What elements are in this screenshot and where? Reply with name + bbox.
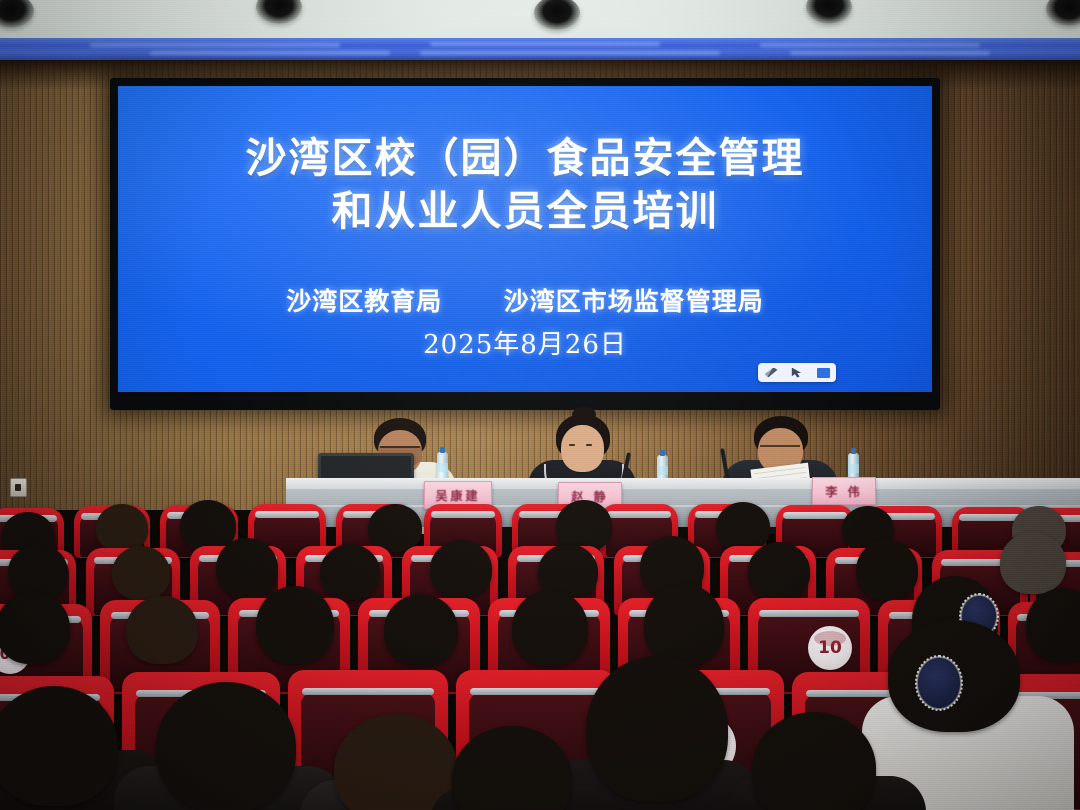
led-cove-light bbox=[0, 38, 1080, 62]
slide-date: 2025年8月26日 bbox=[118, 324, 932, 361]
pen-icon[interactable] bbox=[765, 368, 778, 378]
slide-org-left: 沙湾区教育局 bbox=[286, 287, 442, 316]
head bbox=[561, 425, 604, 472]
audience-head bbox=[716, 502, 770, 552]
audience-head-foreground bbox=[156, 682, 296, 810]
audience-head bbox=[512, 590, 588, 666]
audience-head-foreground bbox=[586, 656, 728, 802]
name-placard-right-text: 李 伟 bbox=[825, 483, 862, 500]
audience-head bbox=[112, 546, 170, 600]
audience-head bbox=[856, 540, 918, 600]
audience-head bbox=[216, 538, 278, 598]
audience-head bbox=[384, 594, 458, 666]
projection-screen-bezel: 沙湾区校（园）食品安全管理 和从业人员全员培训 沙湾区教育局 沙湾区市场监督管理… bbox=[110, 78, 940, 410]
audience-seating: 09 10 09 bbox=[0, 500, 1080, 810]
audience-head bbox=[430, 540, 492, 598]
slide-title: 沙湾区校（园）食品安全管理 和从业人员全员培训 bbox=[118, 132, 932, 238]
audience-head bbox=[1000, 532, 1066, 594]
slide-title-line2: 和从业人员全员培训 bbox=[118, 185, 932, 238]
audience-head bbox=[96, 504, 148, 552]
conference-photo: 沙湾区校（园）食品安全管理 和从业人员全员培训 沙湾区教育局 沙湾区市场监督管理… bbox=[0, 0, 1080, 810]
glasses-icon bbox=[760, 445, 800, 454]
audience-head bbox=[256, 586, 334, 664]
audience-head bbox=[644, 584, 724, 666]
eye bbox=[569, 444, 575, 446]
pearl-hair-clip bbox=[918, 658, 960, 708]
slide-organizations: 沙湾区教育局 沙湾区市场监督管理局 bbox=[118, 282, 932, 318]
seat-number-sticker: 10 bbox=[808, 626, 852, 670]
slide-title-line1: 沙湾区校（园）食品安全管理 bbox=[118, 132, 932, 185]
presentation-toolbar[interactable] bbox=[758, 363, 836, 382]
cursor-icon[interactable] bbox=[791, 368, 804, 378]
audience-head bbox=[320, 544, 380, 600]
audience-head-foreground bbox=[0, 686, 118, 806]
audience-head bbox=[368, 504, 422, 552]
projection-screen: 沙湾区校（园）食品安全管理 和从业人员全员培训 沙湾区教育局 沙湾区市场监督管理… bbox=[118, 86, 932, 392]
audience-head bbox=[0, 592, 70, 664]
audience-head bbox=[126, 596, 198, 664]
audience-head bbox=[748, 542, 810, 600]
eye bbox=[586, 444, 592, 446]
slideshow-icon[interactable] bbox=[817, 368, 830, 378]
wall-outlet bbox=[10, 478, 27, 497]
slide-org-right: 沙湾区市场监督管理局 bbox=[504, 287, 764, 316]
